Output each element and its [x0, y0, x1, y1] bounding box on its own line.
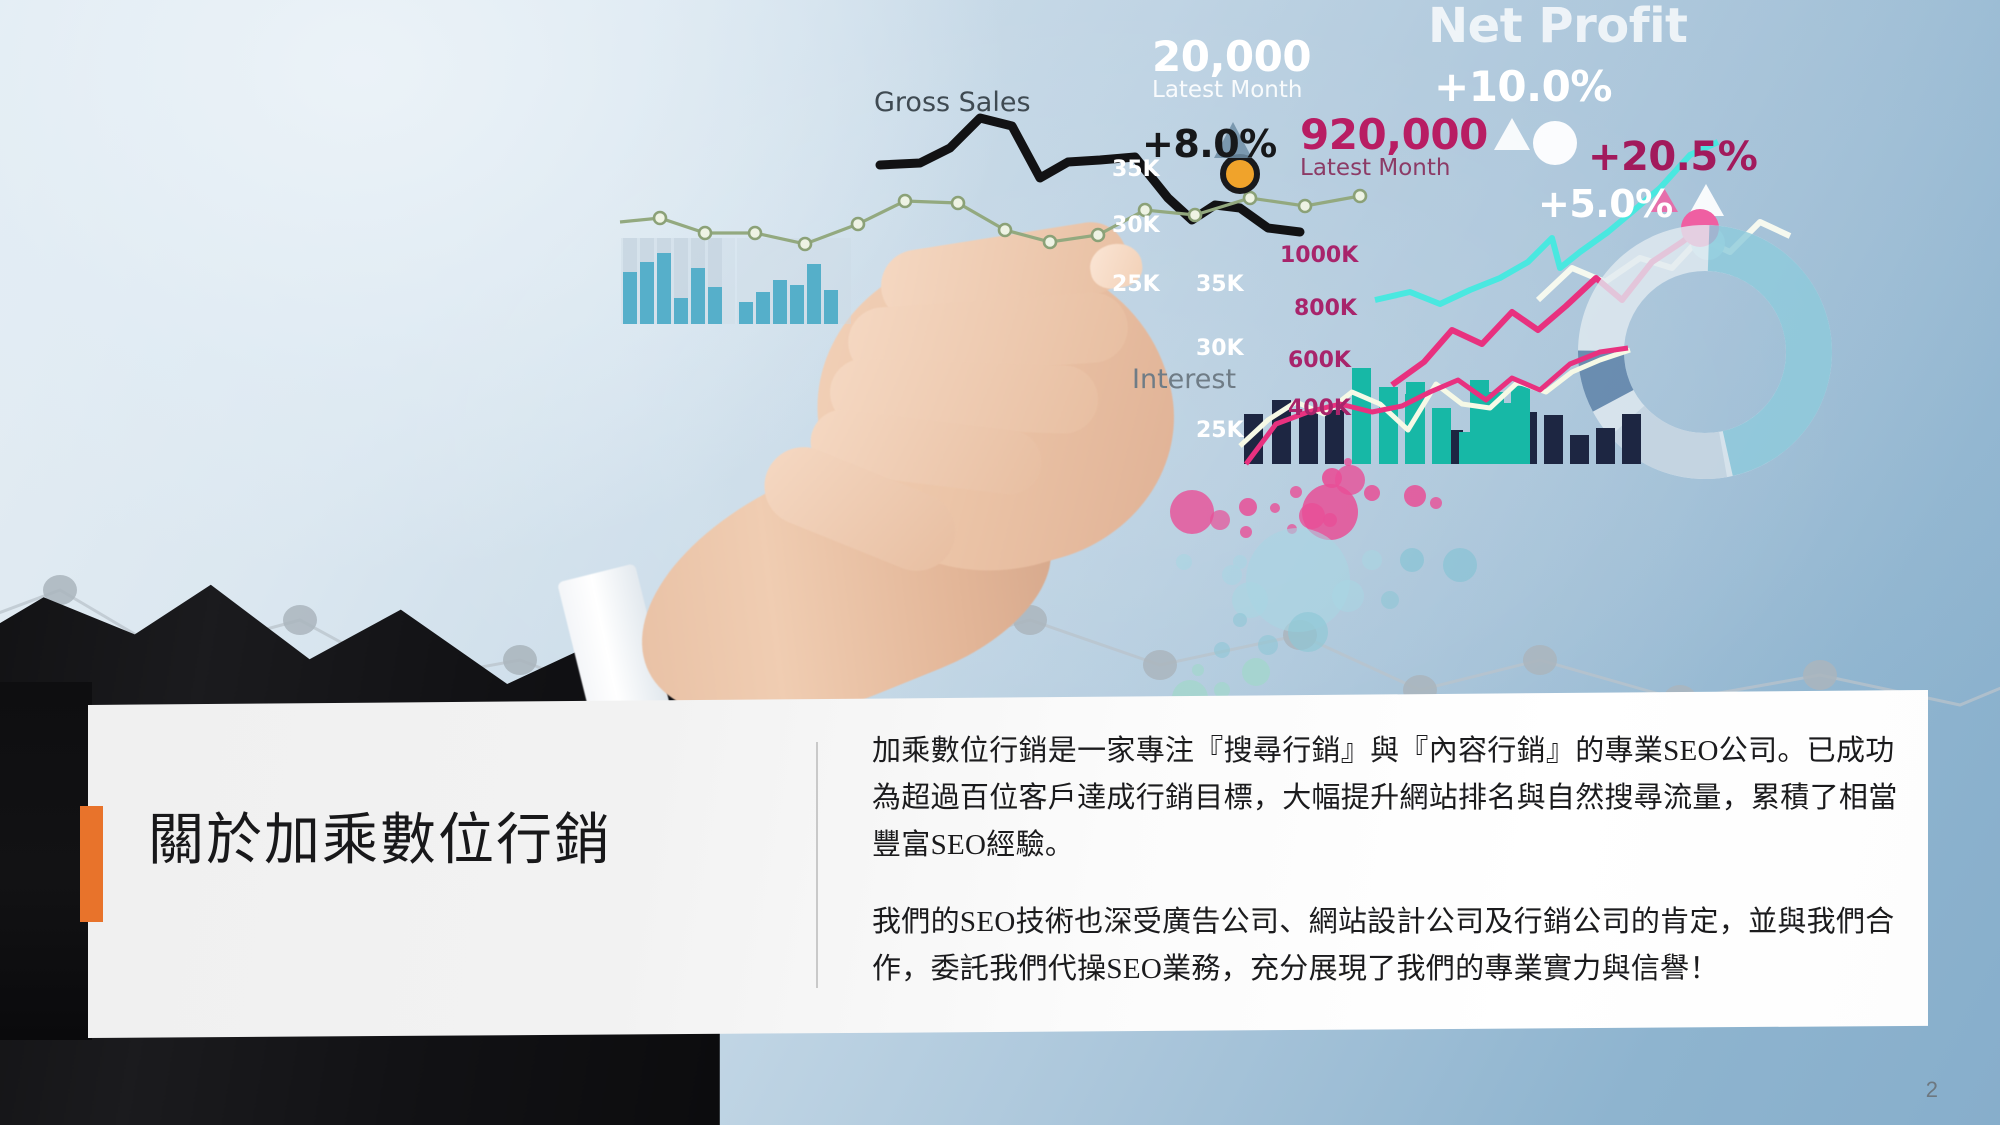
net-profit-kpi: 920,000 Latest Month: [1300, 110, 1488, 181]
kpi-value-20000: 20,000: [1152, 32, 1311, 81]
kpi-pct-5: +5.0%: [1538, 182, 1673, 226]
axis-tick-30k-mid: 30K: [1196, 336, 1244, 361]
axis-tick-25k-left: 25K: [1112, 272, 1160, 297]
gross-sales-kpi: 20,000 Latest Month: [1152, 32, 1311, 103]
gross-sales-label: Gross Sales: [874, 87, 1031, 118]
axis-tick-1000k: 1000K: [1280, 243, 1358, 268]
body-paragraph-2: 我們的SEO技術也深受廣告公司、網站設計公司及行銷公司的肯定，並與我們合作，委託…: [872, 899, 1902, 993]
vertical-divider: [816, 742, 818, 988]
orange-accent-bar: [80, 806, 103, 922]
axis-tick-800k: 800K: [1294, 296, 1357, 321]
kpi-pct-8: +8.0%: [1142, 122, 1277, 166]
axis-tick-25k-mid: 25K: [1196, 418, 1244, 443]
page-number: 2: [1926, 1077, 1938, 1103]
panel-black-edge: [0, 682, 92, 1040]
axis-tick-400k: 400K: [1288, 396, 1351, 421]
kpi-caption-latest-month: Latest Month: [1152, 77, 1311, 103]
kpi-pct-20-5: +20.5%: [1588, 134, 1757, 180]
slide-canvas: Gross Sales Interest Net Profit 20,000 L…: [0, 0, 2000, 1125]
axis-tick-35k-left: 35K: [1112, 157, 1160, 182]
page-title: 關於加乘數位行銷: [148, 810, 708, 873]
axis-tick-35k-mid: 35K: [1196, 272, 1244, 297]
axis-tick-30k-left: 30K: [1112, 213, 1160, 238]
interest-label: Interest: [1132, 364, 1236, 395]
body-text-column: 加乘數位行銷是一家專注『搜尋行銷』與『內容行銷』的專業SEO公司。已成功為超過百…: [872, 728, 1902, 993]
axis-tick-600k: 600K: [1288, 348, 1351, 373]
net-profit-heading: Net Profit: [1428, 0, 1688, 54]
kpi-value-920000: 920,000: [1300, 110, 1488, 159]
body-paragraph-1: 加乘數位行銷是一家專注『搜尋行銷』與『內容行銷』的專業SEO公司。已成功為超過百…: [872, 728, 1902, 869]
kpi-pct-10: +10.0%: [1434, 62, 1612, 111]
